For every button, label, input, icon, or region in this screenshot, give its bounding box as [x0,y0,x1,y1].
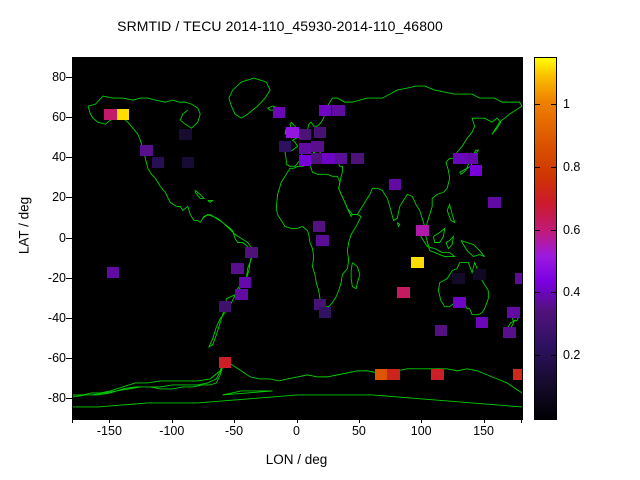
data-cell [179,129,192,140]
x-tick-label: 100 [391,424,451,438]
colorbar-tick-labels: 0.20.40.60.81 [534,57,604,418]
y-tick-mark [66,77,72,78]
y-tick-label: 60 [36,110,66,124]
x-tick-label: -150 [79,424,139,438]
x-tick-mark [521,417,522,423]
y-tick-label: -60 [36,351,66,365]
y-axis-tick-labels: 806040200-20-40-60-80 [30,57,66,418]
data-cell [107,267,120,278]
data-cell [299,155,312,166]
data-cell-layer [73,58,522,419]
colorbar-tick-label: 0.6 [563,223,580,237]
x-tick-mark [359,417,360,423]
data-cell [319,307,332,318]
colorbar-tick-label: 0.2 [563,348,580,362]
x-tick-label: -100 [142,424,202,438]
colorbar-tick-mark [534,104,540,105]
y-tick-mark [66,278,72,279]
x-tick-mark [109,417,110,423]
data-cell [140,145,153,156]
colorbar-tick-mark [551,167,557,168]
data-cell [231,263,244,274]
y-tick-mark [66,398,72,399]
y-tick-mark [66,318,72,319]
x-tick-label: 50 [329,424,389,438]
x-tick-label: 150 [454,424,514,438]
colorbar-tick-label: 1 [563,97,570,111]
x-axis-tick-labels: -150-100-50050100150 [72,424,521,444]
data-cell [335,153,348,164]
data-cell [286,127,299,138]
data-cell [245,247,258,258]
data-cell [375,369,388,380]
colorbar-tick-mark [551,104,557,105]
colorbar-tick-mark [551,292,557,293]
data-cell [273,107,286,118]
data-cell [503,327,516,338]
data-cell [279,141,292,152]
x-tick-mark [297,417,298,423]
data-cell [435,325,448,336]
y-tick-label: 80 [36,70,66,84]
data-cell [104,109,117,120]
data-cell [488,197,501,208]
data-cell [314,127,327,138]
data-cell [313,221,326,232]
data-cell [219,301,232,312]
data-cell [466,153,479,164]
figure-root: SRMTID / TECU 2014-110_45930-2014-110_46… [0,0,640,480]
y-tick-mark [66,117,72,118]
data-cell [319,105,332,116]
data-cell [473,269,486,280]
y-tick-label: -80 [36,391,66,405]
y-tick-label: 40 [36,150,66,164]
x-axis-title: LON / deg [72,452,521,467]
data-cell [299,129,312,140]
y-tick-label: -20 [36,271,66,285]
x-tick-mark [172,417,173,423]
data-cell [351,153,364,164]
data-cell [476,317,489,328]
colorbar-tick-mark [534,292,540,293]
colorbar-tick-mark [534,355,540,356]
data-cell [152,157,165,168]
data-cell [235,289,248,300]
data-cell [513,369,523,380]
data-cell [452,273,465,284]
y-tick-label: 0 [36,231,66,245]
data-cell [117,109,130,120]
colorbar-tick-mark [551,230,557,231]
y-tick-label: -40 [36,311,66,325]
data-cell [507,307,520,318]
x-tick-mark [234,417,235,423]
y-tick-mark [66,238,72,239]
y-tick-label: 20 [36,190,66,204]
data-cell [515,273,524,284]
data-cell [453,297,466,308]
data-cell [411,257,424,268]
colorbar-tick-mark [534,167,540,168]
data-cell [322,153,335,164]
y-axis-title: LAT / deg [17,166,32,286]
data-cell [416,225,429,236]
x-tick-label: 0 [267,424,327,438]
colorbar-tick-mark [534,230,540,231]
x-tick-mark [72,417,73,423]
data-cell [239,277,252,288]
y-tick-mark [66,358,72,359]
x-tick-mark [421,417,422,423]
data-cell [299,143,312,154]
data-cell [316,235,329,246]
data-cell [431,369,444,380]
map-plot-area[interactable] [72,57,523,420]
colorbar-tick-label: 0.8 [563,160,580,174]
colorbar-tick-mark [551,355,557,356]
data-cell [387,369,400,380]
data-cell [470,165,483,176]
y-tick-mark [66,197,72,198]
colorbar-tick-label: 0.4 [563,285,580,299]
x-tick-mark [484,417,485,423]
data-cell [389,179,402,190]
data-cell [453,153,466,164]
data-cell [182,157,195,168]
data-cell [332,105,345,116]
data-cell [311,141,324,152]
data-cell [397,287,410,298]
x-tick-label: -50 [204,424,264,438]
data-cell [219,357,232,368]
chart-title: SRMTID / TECU 2014-110_45930-2014-110_46… [0,18,560,34]
y-tick-mark [66,157,72,158]
